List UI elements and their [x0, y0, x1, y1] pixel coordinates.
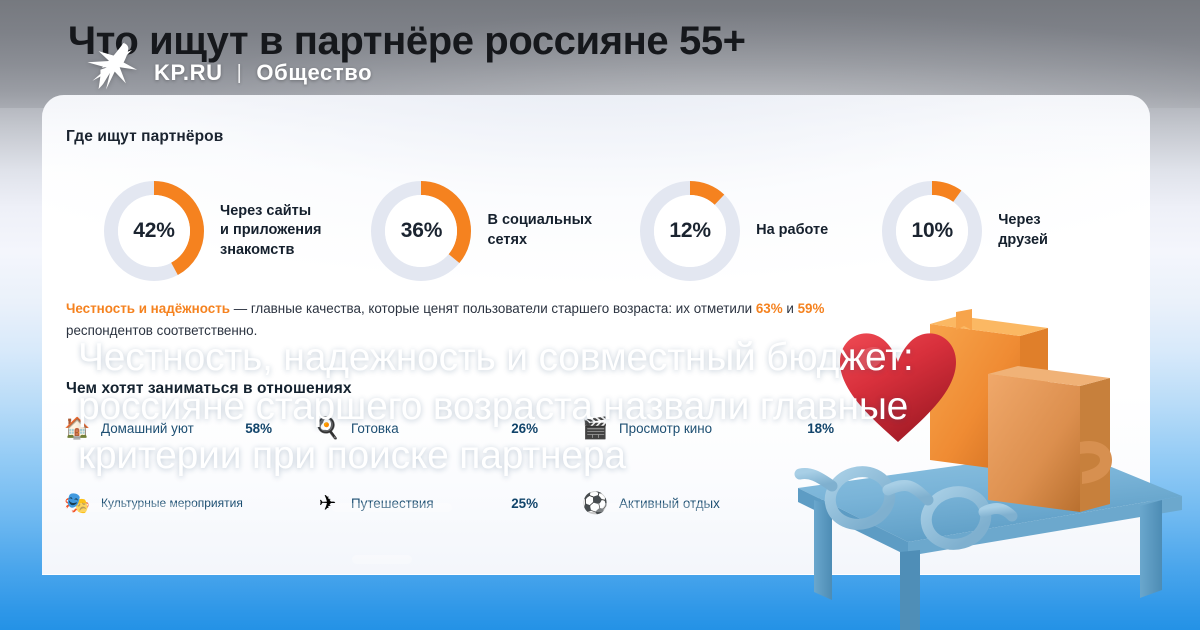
- progress-pill: [352, 555, 412, 564]
- donut-label-4: Через друзей: [998, 211, 1048, 250]
- donut-chart-2: 36%: [369, 179, 473, 283]
- activity-value: 8%: [815, 496, 834, 511]
- note-text-1: — главные качества, которые ценят пользо…: [230, 301, 756, 316]
- note-value-1: 63%: [756, 301, 783, 316]
- progress-pill: [590, 503, 710, 512]
- brand-bar: KP.RU | Общество: [78, 40, 372, 92]
- donut-item: 42% Через сайты и приложения знакомств: [102, 179, 321, 283]
- donut-value-3: 12%: [638, 179, 742, 283]
- brand-name[interactable]: KP.RU: [154, 60, 223, 86]
- rubric-label[interactable]: Общество: [256, 60, 372, 86]
- overlay-headline: Честность, надежность и совместный бюдже…: [78, 334, 1078, 480]
- activity-value: 25%: [511, 496, 538, 511]
- note-value-2: 59%: [798, 301, 825, 316]
- donut-label-2: В социальных сетях: [487, 211, 592, 250]
- donut-item: 10% Через друзей: [880, 179, 1048, 283]
- kp-bird-logo-icon[interactable]: [78, 35, 144, 97]
- brand-separator: |: [237, 62, 243, 85]
- note-text-2: и: [783, 301, 798, 316]
- donut-item: 12% На работе: [638, 179, 828, 283]
- donut-value-4: 10%: [880, 179, 984, 283]
- donut-chart-4: 10%: [880, 179, 984, 283]
- donut-item: 36% В социальных сетях: [369, 179, 592, 283]
- donut-label-3: На работе: [756, 221, 828, 241]
- donut-label-1: Через сайты и приложения знакомств: [220, 202, 321, 261]
- donut-chart-row: 42% Через сайты и приложения знакомств 3…: [60, 170, 1140, 292]
- donut-chart-1: 42%: [102, 179, 206, 283]
- donut-chart-3: 12%: [638, 179, 742, 283]
- donut-value-1: 42%: [102, 179, 206, 283]
- section-title-where: Где ищут партнёров: [66, 128, 223, 146]
- progress-pill: [76, 503, 196, 512]
- progress-pill: [332, 503, 452, 512]
- note-highlight-lead: Честность и надёжность: [66, 301, 230, 316]
- donut-value-2: 36%: [369, 179, 473, 283]
- infographic-stage: Что ищут в партнёре россияне 55+ KP.RU |…: [0, 0, 1200, 630]
- brand-text-group: KP.RU | Общество: [154, 46, 372, 86]
